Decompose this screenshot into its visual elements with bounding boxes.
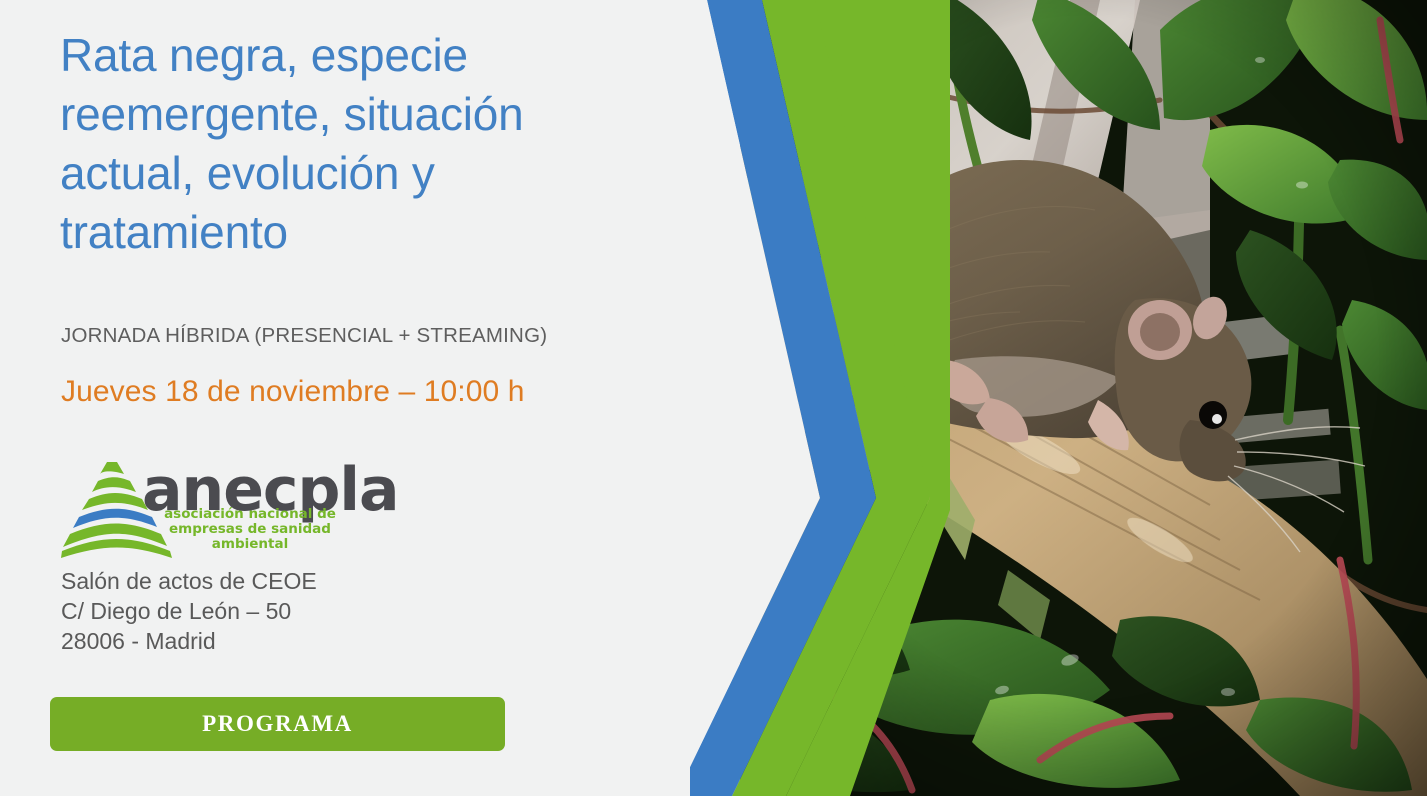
poster: Rata negra, especie reemergente, situaci… — [0, 0, 1427, 796]
anecpla-logo: anecpla asociación nacional de empresas … — [60, 440, 460, 560]
page-title: Rata negra, especie reemergente, situaci… — [60, 26, 660, 262]
venue-line-1: Salón de actos de CEOE — [61, 566, 317, 596]
venue-line-3: 28006 - Madrid — [61, 626, 317, 656]
anecpla-logo-svg: anecpla asociación nacional de empresas … — [60, 440, 460, 560]
venue-address: Salón de actos de CEOE C/ Diego de León … — [61, 566, 317, 656]
programa-button[interactable]: PROGRAMA — [50, 697, 505, 751]
event-format-subtitle: JORNADA HÍBRIDA (PRESENCIAL + STREAMING) — [61, 324, 547, 348]
event-date: Jueves 18 de noviembre – 10:00 h — [61, 375, 525, 409]
left-content-panel: Rata negra, especie reemergente, situaci… — [0, 0, 740, 796]
rat-photo — [740, 0, 1427, 796]
svg-text:asociación nacional de: asociación nacional de — [164, 506, 336, 522]
rat-photo-illustration — [740, 0, 1427, 796]
venue-line-2: C/ Diego de León – 50 — [61, 596, 317, 626]
svg-text:empresas de sanidad: empresas de sanidad — [169, 521, 331, 537]
anecpla-tagline: asociación nacional de empresas de sanid… — [164, 506, 336, 552]
svg-text:ambiental: ambiental — [212, 536, 288, 552]
